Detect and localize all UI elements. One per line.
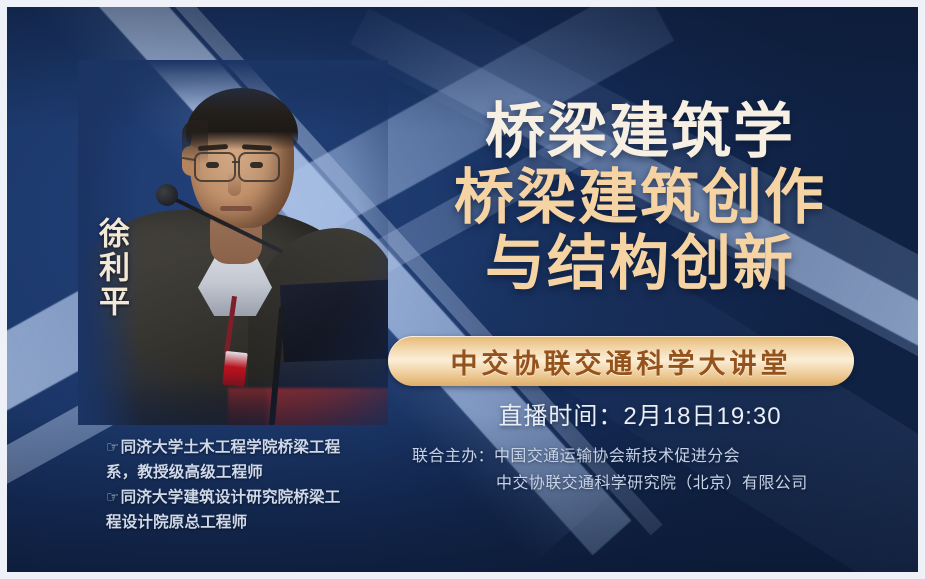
organizers-line-2: 中交协联交通科学研究院（北京）有限公司 [412, 470, 882, 497]
organizer-name-1: 中国交通运输协会新技术促进分会 [494, 448, 740, 465]
headline-line-2: 桥梁建筑创作 [405, 165, 875, 231]
bio-text-2a: 同济大学建筑设计研究院桥梁工 [121, 489, 341, 506]
bio-line-1: ☞同济大学土木工程学院桥梁工程 [106, 435, 406, 460]
headline-line-1: 桥梁建筑学 [405, 99, 875, 165]
bio-text-1a: 同济大学土木工程学院桥梁工程 [121, 439, 341, 456]
organizers-label: 联合主办： [412, 448, 494, 465]
pointing-hand-icon-2: ☞ [106, 489, 120, 506]
organizers-line-1: 联合主办：中国交通运输协会新技术促进分会 [412, 443, 882, 470]
bio-line-2: 系，教授级高级工程师 [106, 460, 406, 485]
series-banner-label: 中交协联交通科学大讲堂 [451, 342, 792, 381]
live-time: 直播时间：2月18日19:30 [405, 396, 875, 431]
poster-canvas: 徐利平 桥梁建筑学 桥梁建筑创作 与结构创新 中交协联交通科学大讲堂 直播时间：… [7, 7, 918, 572]
organizer-name-2: 中交协联交通科学研究院（北京）有限公司 [496, 475, 808, 492]
bio-text-2b: 程设计院原总工程师 [106, 514, 247, 531]
pointing-hand-icon: ☞ [106, 439, 120, 456]
bio-text-1b: 系，教授级高级工程师 [106, 464, 263, 481]
speaker-bio: ☞同济大学土木工程学院桥梁工程 系，教授级高级工程师 ☞同济大学建筑设计研究院桥… [106, 435, 406, 535]
organizers-block: 联合主办：中国交通运输协会新技术促进分会 中交协联交通科学研究院（北京）有限公司 [412, 443, 882, 497]
bio-line-3: ☞同济大学建筑设计研究院桥梁工 [106, 485, 406, 510]
headline-line-3: 与结构创新 [405, 231, 875, 297]
bio-line-4: 程设计院原总工程师 [106, 510, 406, 535]
headline-block: 桥梁建筑学 桥梁建筑创作 与结构创新 [405, 99, 875, 297]
speaker-name: 徐利平 [93, 217, 127, 319]
series-banner: 中交协联交通科学大讲堂 [388, 336, 854, 386]
